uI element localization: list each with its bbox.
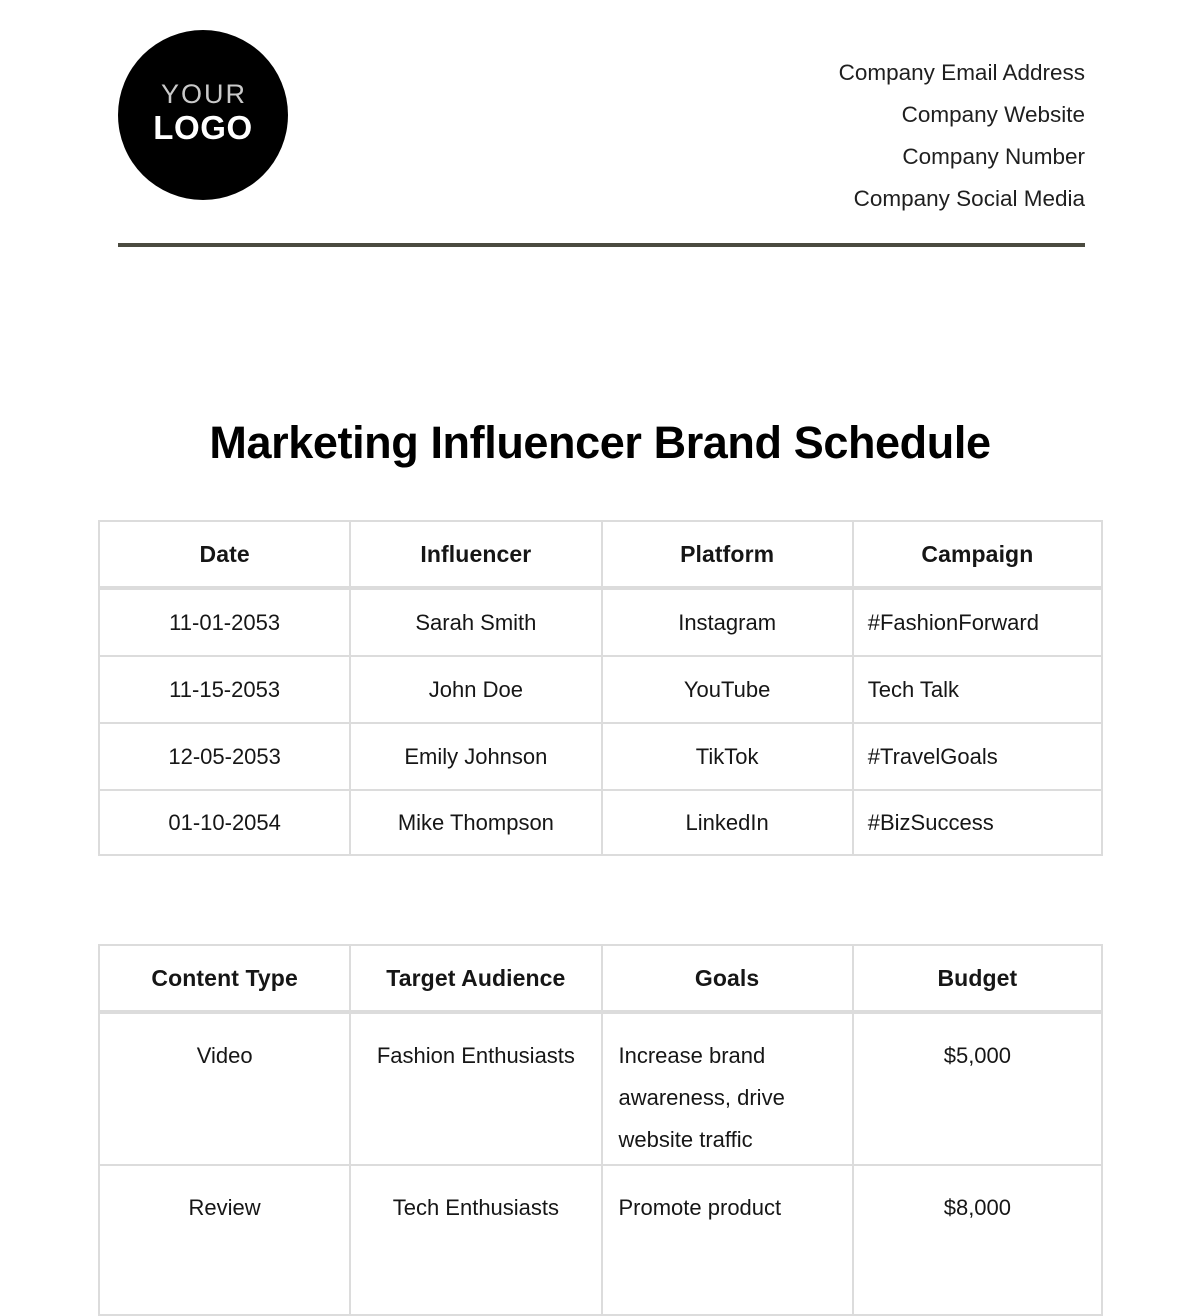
table-row: 12-05-2053 Emily Johnson TikTok #TravelG… xyxy=(98,722,1103,789)
cell-platform: YouTube xyxy=(601,655,852,722)
schedule-table: Date Influencer Platform Campaign 11-01-… xyxy=(98,520,1103,856)
cell-campaign: #BizSuccess xyxy=(852,789,1103,856)
cell-influencer: Emily Johnson xyxy=(349,722,600,789)
column-header-budget: Budget xyxy=(852,944,1103,1012)
cell-date: 11-01-2053 xyxy=(98,588,349,655)
header-divider-rule xyxy=(118,243,1085,247)
cell-goals: Promote product xyxy=(601,1164,852,1316)
company-logo: YOUR LOGO xyxy=(118,30,288,200)
cell-content-type: Review xyxy=(98,1164,349,1316)
cell-influencer: Sarah Smith xyxy=(349,588,600,655)
contact-number-line: Company Number xyxy=(565,136,1085,178)
company-contact-block: Company Email Address Company Website Co… xyxy=(565,52,1085,220)
column-header-target-audience: Target Audience xyxy=(349,944,600,1012)
contact-website-line: Company Website xyxy=(565,94,1085,136)
table-row: 11-15-2053 John Doe YouTube Tech Talk xyxy=(98,655,1103,722)
cell-influencer: John Doe xyxy=(349,655,600,722)
schedule-table-header: Date Influencer Platform Campaign xyxy=(98,520,1103,588)
column-header-platform: Platform xyxy=(601,520,852,588)
cell-target-audience: Fashion Enthusiasts xyxy=(349,1012,600,1164)
cell-platform: TikTok xyxy=(601,722,852,789)
table-row: 11-01-2053 Sarah Smith Instagram #Fashio… xyxy=(98,588,1103,655)
document-header: YOUR LOGO Company Email Address Company … xyxy=(0,0,1200,250)
column-header-content-type: Content Type xyxy=(98,944,349,1012)
document-page: YOUR LOGO Company Email Address Company … xyxy=(0,0,1200,1200)
contact-social-media-line: Company Social Media xyxy=(565,178,1085,220)
cell-campaign: Tech Talk xyxy=(852,655,1103,722)
logo-bottom-text: LOGO xyxy=(153,110,253,146)
table-header-row: Content Type Target Audience Goals Budge… xyxy=(98,944,1103,1012)
table-row: Review Tech Enthusiasts Promote product … xyxy=(98,1164,1103,1316)
cell-date: 11-15-2053 xyxy=(98,655,349,722)
cell-budget: $8,000 xyxy=(852,1164,1103,1316)
contact-email-line: Company Email Address xyxy=(565,52,1085,94)
table-row: Video Fashion Enthusiasts Increase brand… xyxy=(98,1012,1103,1164)
cell-campaign: #FashionForward xyxy=(852,588,1103,655)
column-header-influencer: Influencer xyxy=(349,520,600,588)
page-title: Marketing Influencer Brand Schedule xyxy=(0,414,1200,472)
cell-platform: Instagram xyxy=(601,588,852,655)
cell-content-type: Video xyxy=(98,1012,349,1164)
table-row: 01-10-2054 Mike Thompson LinkedIn #BizSu… xyxy=(98,789,1103,856)
cell-influencer: Mike Thompson xyxy=(349,789,600,856)
content-table-body: Video Fashion Enthusiasts Increase brand… xyxy=(98,1012,1103,1316)
table-header-row: Date Influencer Platform Campaign xyxy=(98,520,1103,588)
cell-budget: $5,000 xyxy=(852,1012,1103,1164)
cell-goals: Increase brand awareness, drive website … xyxy=(601,1012,852,1164)
cell-platform: LinkedIn xyxy=(601,789,852,856)
cell-date: 01-10-2054 xyxy=(98,789,349,856)
schedule-table-body: 11-01-2053 Sarah Smith Instagram #Fashio… xyxy=(98,588,1103,856)
cell-date: 12-05-2053 xyxy=(98,722,349,789)
column-header-date: Date xyxy=(98,520,349,588)
cell-campaign: #TravelGoals xyxy=(852,722,1103,789)
column-header-goals: Goals xyxy=(601,944,852,1012)
column-header-campaign: Campaign xyxy=(852,520,1103,588)
cell-target-audience: Tech Enthusiasts xyxy=(349,1164,600,1316)
content-table-header: Content Type Target Audience Goals Budge… xyxy=(98,944,1103,1012)
content-table: Content Type Target Audience Goals Budge… xyxy=(98,944,1103,1316)
logo-top-text: YOUR xyxy=(161,80,247,108)
